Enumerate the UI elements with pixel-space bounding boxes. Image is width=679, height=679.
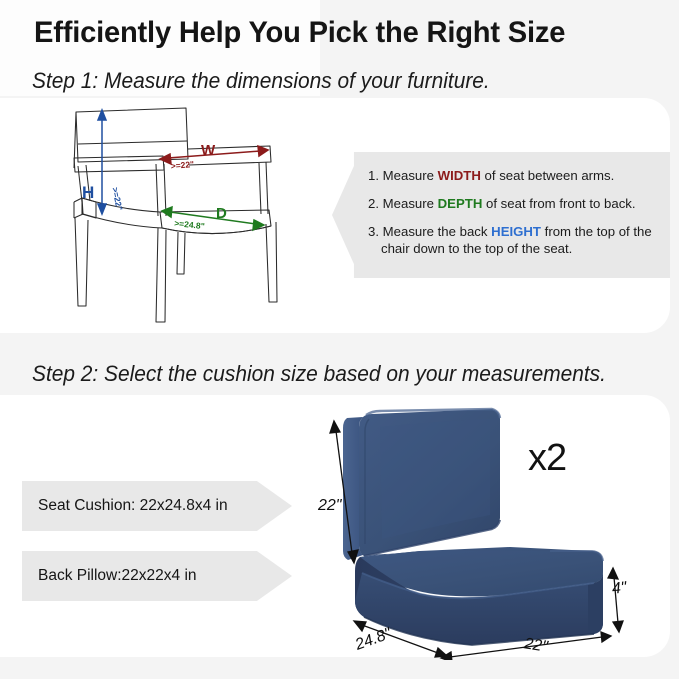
seat-cushion-tag: Seat Cushion: 22x24.8x4 in: [22, 481, 292, 531]
instruction-text-pre: Measure the back: [383, 224, 492, 239]
instruction-number: 3.: [368, 224, 379, 239]
quantity-multiplier-label: x2: [528, 437, 566, 480]
measurement-instructions-list: 1. Measure WIDTH of seat between arms. 2…: [368, 167, 660, 257]
instruction-text-post: of seat between arms.: [481, 168, 614, 183]
cushion-set-illustration: [300, 405, 679, 660]
dimension-depth-letter: D: [216, 205, 227, 222]
dimension-height-value: >=22": [110, 186, 125, 211]
instruction-text-post: of seat from front to back.: [482, 196, 635, 211]
cushion-dim-seat-width: 22": [523, 635, 549, 656]
cushion-dim-back-height: 22": [318, 497, 341, 515]
page-title: Efficiently Help You Pick the Right Size: [34, 16, 565, 50]
dimension-height-letter: H: [82, 183, 94, 202]
step-1-heading: Step 1: Measure the dimensions of your f…: [32, 68, 490, 94]
instruction-item-2: 2. Measure DEPTH of seat from front to b…: [368, 195, 660, 212]
instruction-number: 2.: [368, 196, 379, 211]
step-2-heading: Step 2: Select the cushion size based on…: [32, 361, 606, 387]
seat-cushion-tag-label: Seat Cushion: 22x24.8x4 in: [38, 481, 228, 531]
instruction-text-pre: Measure: [383, 168, 438, 183]
instruction-item-1: 1. Measure WIDTH of seat between arms.: [368, 167, 660, 184]
seat-cushion-shape: [355, 547, 603, 645]
dimension-width-value: >=22": [170, 159, 194, 171]
back-pillow-tag-label: Back Pillow:22x22x4 in: [38, 551, 197, 601]
dimension-width-letter: W: [201, 142, 216, 159]
dimension-depth-value: >=24.8": [174, 218, 205, 231]
instruction-keyword-height: HEIGHT: [491, 224, 541, 239]
instruction-keyword-depth: DEPTH: [438, 196, 483, 211]
measurement-instructions-callout: 1. Measure WIDTH of seat between arms. 2…: [332, 152, 670, 278]
back-pillow-shape: [343, 409, 500, 560]
instruction-number: 1.: [368, 168, 379, 183]
cushion-dim-seat-thickness: 4": [611, 579, 627, 598]
dim-arrow-seat-thickness: [608, 568, 623, 632]
instruction-item-3: 3. Measure the back HEIGHT from the top …: [368, 223, 660, 257]
back-pillow-tag: Back Pillow:22x22x4 in: [22, 551, 292, 601]
dimension-height-arrow: [98, 110, 106, 214]
instruction-keyword-width: WIDTH: [438, 168, 481, 183]
armchair-diagram: H >=22" W >=22" D >=24.8": [38, 106, 288, 331]
instruction-text-pre: Measure: [383, 196, 438, 211]
